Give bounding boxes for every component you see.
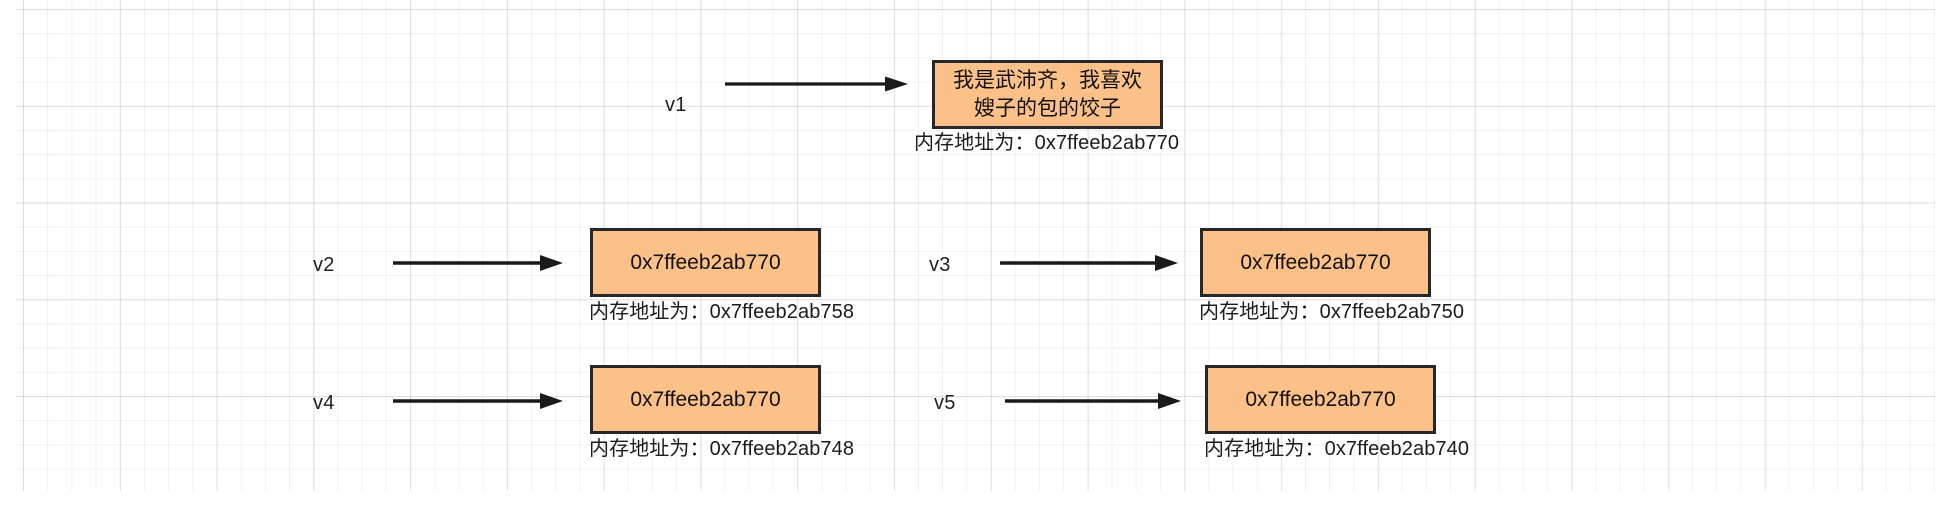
variable-label-v3: v3 [929, 255, 951, 275]
memory-box-v4: 0x7ffeeb2ab770 [590, 365, 821, 434]
memory-box-v2: 0x7ffeeb2ab770 [590, 228, 821, 297]
address-caption-v5: 内存地址为：0x7ffeeb2ab740 [1204, 439, 1469, 459]
address-caption-v3: 内存地址为：0x7ffeeb2ab750 [1199, 302, 1464, 322]
variable-label-v5: v5 [934, 393, 956, 413]
address-caption-v2: 内存地址为：0x7ffeeb2ab758 [589, 302, 854, 322]
memory-box-v3: 0x7ffeeb2ab770 [1200, 228, 1431, 297]
arrow-v4-to-box [393, 391, 565, 411]
variable-label-v4: v4 [313, 393, 335, 413]
memory-box-v5: 0x7ffeeb2ab770 [1205, 365, 1436, 434]
diagram-canvas: v1 我是武沛齐，我喜欢 嫂子的包的饺子 内存地址为：0x7ffeeb2ab77… [0, 0, 1954, 516]
arrow-v3-to-box [1000, 253, 1180, 273]
arrow-v1-to-box [725, 74, 910, 94]
memory-box-v1-text: 我是武沛齐，我喜欢 嫂子的包的饺子 [953, 67, 1142, 122]
address-caption-v1: 内存地址为：0x7ffeeb2ab770 [914, 133, 1179, 153]
memory-box-v3-text: 0x7ffeeb2ab770 [1240, 249, 1390, 277]
memory-box-v1: 我是武沛齐，我喜欢 嫂子的包的饺子 [932, 60, 1163, 129]
arrow-v5-to-box [1005, 391, 1183, 411]
memory-box-v2-text: 0x7ffeeb2ab770 [630, 249, 780, 277]
address-caption-v4: 内存地址为：0x7ffeeb2ab748 [589, 439, 854, 459]
variable-label-v1: v1 [665, 95, 687, 115]
memory-box-v5-text: 0x7ffeeb2ab770 [1245, 386, 1395, 414]
arrow-v2-to-box [393, 253, 565, 273]
variable-label-v2: v2 [313, 255, 335, 275]
memory-box-v4-text: 0x7ffeeb2ab770 [630, 386, 780, 414]
